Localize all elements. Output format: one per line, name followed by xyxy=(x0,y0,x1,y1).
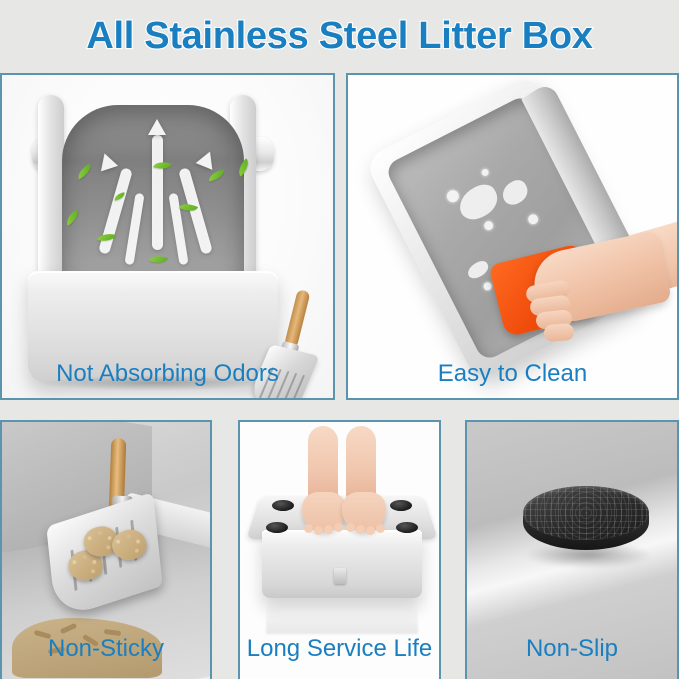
toe xyxy=(334,523,343,532)
header-banner: All Stainless Steel Litter Box xyxy=(0,0,679,73)
suds-bubble xyxy=(445,188,461,204)
airflow-arrow-head-center xyxy=(148,119,166,135)
finger xyxy=(543,323,574,342)
scoop-handle xyxy=(284,289,311,348)
panel-long-service-life[interactable]: Long Service Life xyxy=(238,420,441,679)
toe xyxy=(324,525,333,534)
panel-non-sticky[interactable]: Non-Sticky xyxy=(0,420,212,679)
water-splash-1 xyxy=(454,180,503,225)
panel-easy-to-clean[interactable]: Easy to Clean xyxy=(346,73,679,400)
leg-left xyxy=(308,426,338,502)
pad-textured-surface xyxy=(523,486,649,540)
rubber-foot-back-left xyxy=(272,500,294,511)
rubber-foot-back-right xyxy=(390,500,412,511)
box-front-panel xyxy=(262,530,422,598)
toe xyxy=(366,526,375,535)
figure-airflow-litter-box xyxy=(2,75,333,398)
toe xyxy=(346,523,355,532)
leg-right xyxy=(346,426,376,502)
suds-bubble xyxy=(480,168,489,177)
suds-bubble xyxy=(526,213,539,226)
rubber-foot-front-right xyxy=(396,522,418,533)
toe xyxy=(356,525,365,534)
litter-pellet xyxy=(60,623,78,634)
toe xyxy=(376,524,385,533)
toe xyxy=(314,526,323,535)
suds-bubble xyxy=(482,281,493,292)
toe xyxy=(304,524,313,533)
panel-caption: Long Service Life xyxy=(240,635,439,663)
panel-non-slip[interactable]: Non-Slip xyxy=(465,420,679,679)
panel-caption: Non-Sticky xyxy=(2,635,210,663)
suds-bubble xyxy=(483,220,495,232)
panel-caption: Not Absorbing Odors xyxy=(2,360,333,388)
box-latch-clip xyxy=(334,568,346,584)
panel-not-absorbing-odors[interactable]: Not Absorbing Odors xyxy=(0,73,335,400)
box-reflection xyxy=(266,600,418,634)
feature-panel-grid: Not Absorbing Odors xyxy=(0,73,679,679)
panel-caption: Easy to Clean xyxy=(348,360,677,388)
water-splash-3 xyxy=(465,259,491,281)
water-splash-2 xyxy=(498,177,531,208)
rubber-foot-front-left xyxy=(266,522,288,533)
airflow-arrow-stem-center xyxy=(152,135,163,250)
page-title: All Stainless Steel Litter Box xyxy=(86,15,592,58)
figure-hand-cleaning-box xyxy=(348,75,677,398)
panel-caption: Non-Slip xyxy=(467,635,677,663)
